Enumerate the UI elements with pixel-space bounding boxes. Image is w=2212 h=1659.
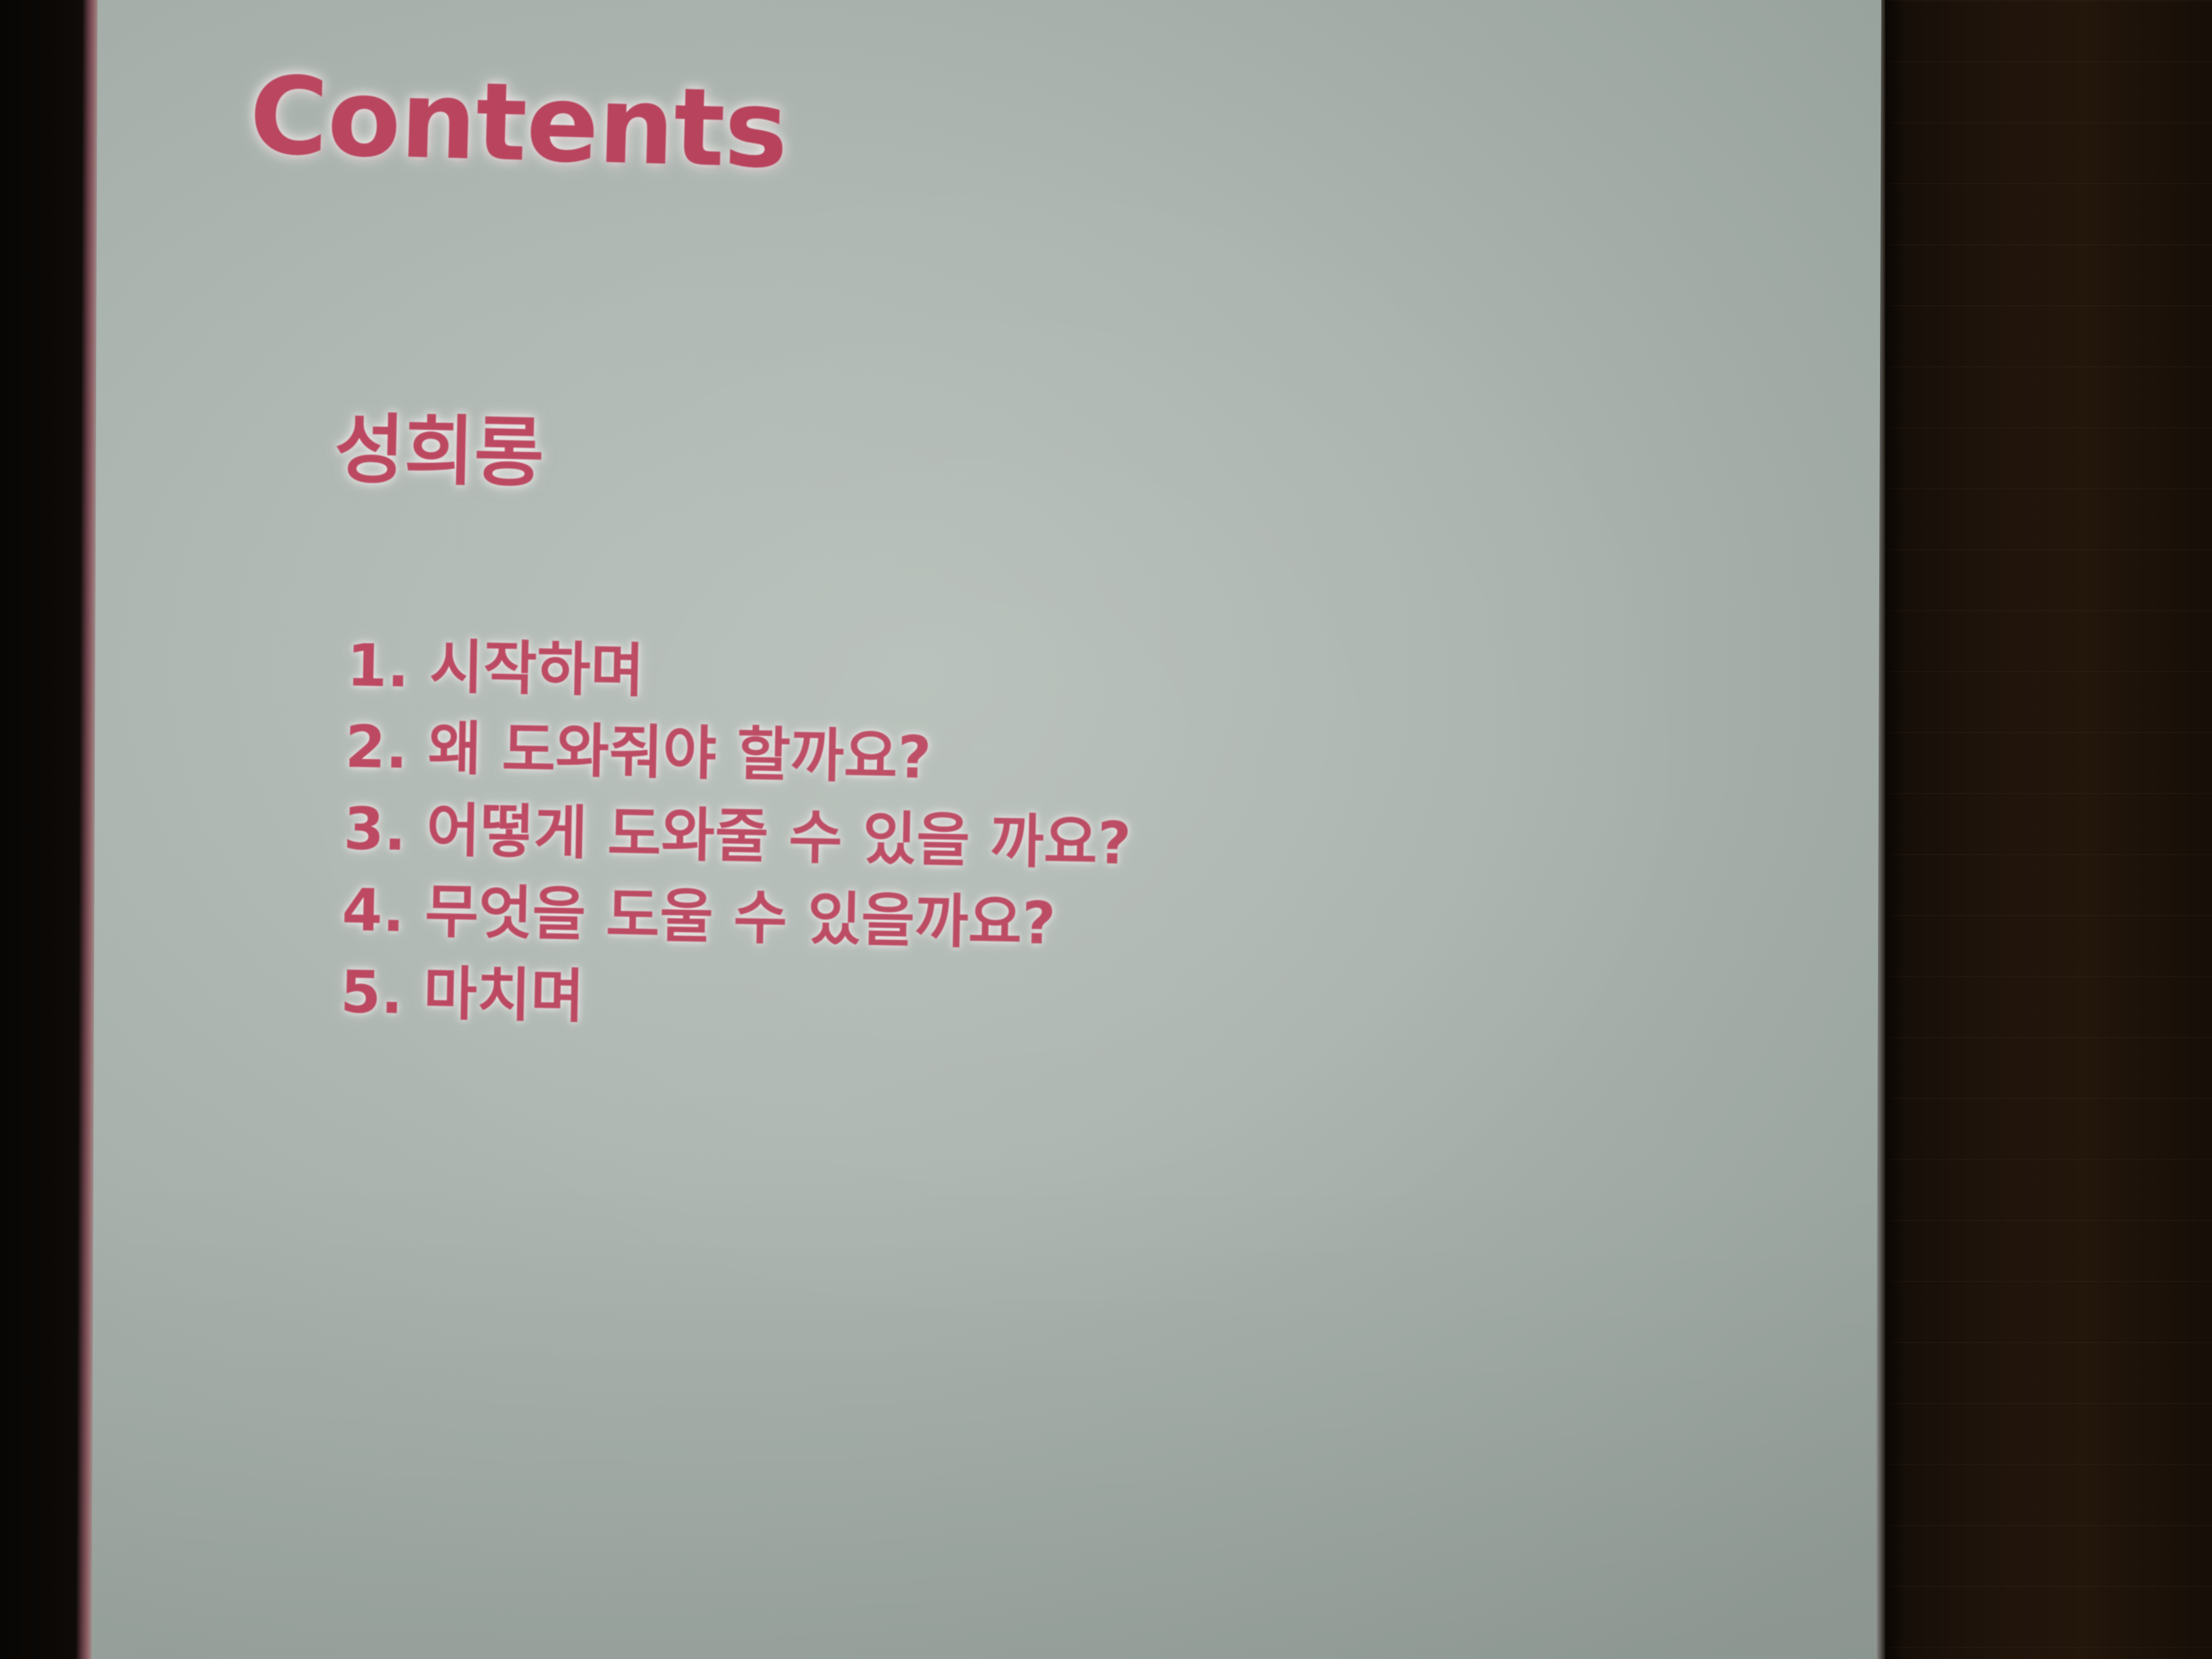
- list-item: 4. 무엇을 도울 수 있을까요?: [341, 869, 1130, 966]
- projection-screen: Contents 성희롱 1. 시작하며 2. 왜 도와줘야 할까요? 3. 어…: [91, 0, 1881, 1659]
- list-item: 2. 왜 도와줘야 할까요?: [344, 707, 1134, 804]
- list-item: 1. 시작하며: [346, 625, 1135, 722]
- list-item: 5. 마치며: [340, 951, 1129, 1048]
- slide-subtitle: 성희롱: [333, 411, 544, 491]
- projected-slide-photo: Contents 성희롱 1. 시작하며 2. 왜 도와줘야 할까요? 3. 어…: [0, 0, 2212, 1659]
- slide-title: Contents: [248, 62, 789, 184]
- room-wall-right: [1877, 0, 2212, 1659]
- contents-list: 1. 시작하며 2. 왜 도와줘야 할까요? 3. 어떻게 도와줄 수 있을 까…: [340, 625, 1135, 1048]
- presentation-slide: Contents 성희롱 1. 시작하며 2. 왜 도와줘야 할까요? 3. 어…: [91, 0, 1881, 1659]
- list-item: 3. 어떻게 도와줄 수 있을 까요?: [343, 788, 1132, 885]
